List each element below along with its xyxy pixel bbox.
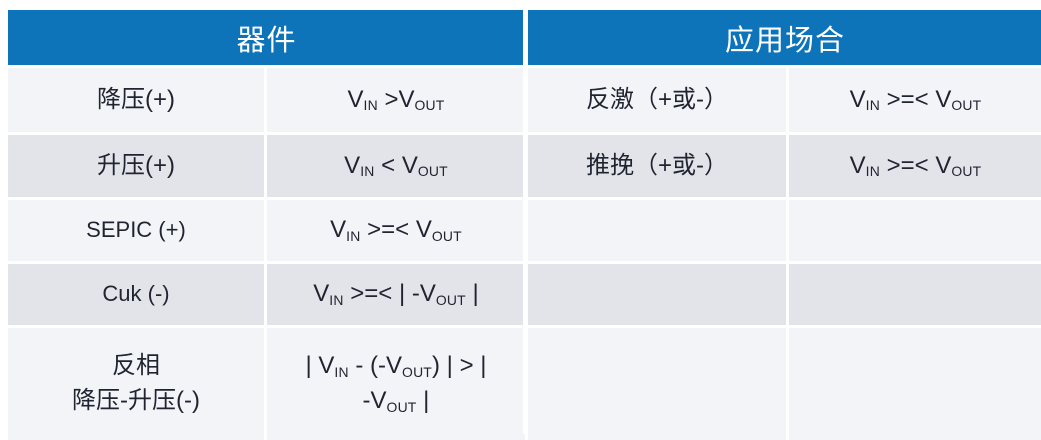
- condition-formula: VIN < VOUT: [344, 151, 448, 182]
- table-cell-app-topology: 推挽（+或-）: [528, 135, 786, 197]
- condition-formula: VIN >VOUT: [348, 85, 445, 116]
- table-cell-condition: VIN >=< | -VOUT |: [267, 264, 525, 325]
- app-condition-formula: VIN >=< VOUT: [850, 151, 982, 182]
- topology-name: 反相 降压-升压(-): [72, 349, 200, 419]
- condition-formula: VIN >=< | -VOUT |: [313, 279, 479, 310]
- topology-name: 升压(+): [97, 151, 175, 182]
- table-row: Cuk (-): [8, 264, 264, 325]
- topology-name: Cuk (-): [102, 280, 169, 308]
- table-row: 升压(+): [8, 135, 264, 197]
- condition-formula-line2: -VOUT |: [305, 384, 486, 419]
- table-row: 反相 降压-升压(-): [8, 328, 264, 440]
- table-row: 降压(+): [8, 68, 264, 132]
- condition-formula: | VIN - (-VOUT) | > | -VOUT |: [305, 349, 486, 419]
- table-cell-app-topology: [528, 328, 786, 440]
- table-cell-condition: | VIN - (-VOUT) | > | -VOUT |: [267, 328, 525, 440]
- table-header-application-label: 应用场合: [725, 17, 845, 59]
- table-cell-app-topology: [528, 200, 786, 261]
- topology-name: SEPIC (+): [86, 216, 186, 244]
- table-header-device: 器件: [8, 10, 525, 65]
- topology-name: 降压(+): [97, 85, 175, 116]
- section-divider: [523, 10, 525, 434]
- table-cell-app-topology: 反激（+或-）: [528, 68, 786, 132]
- condition-formula: VIN >=< VOUT: [330, 215, 462, 246]
- app-topology-name: 反激（+或-）: [586, 85, 728, 116]
- comparison-table: 器件 应用场合 降压(+) VIN >VOUT 反激（+或-） VIN >=< …: [0, 0, 1041, 434]
- topology-name-line1: 反相: [72, 349, 200, 384]
- table-cell-app-condition: [789, 200, 1041, 261]
- app-condition-formula: VIN >=< VOUT: [850, 85, 982, 116]
- table-cell-app-topology: [528, 264, 786, 325]
- table-row: SEPIC (+): [8, 200, 264, 261]
- table-cell-app-condition: [789, 264, 1041, 325]
- condition-formula-line1: | VIN - (-VOUT) | > |: [305, 349, 486, 384]
- table-cell-condition: VIN >=< VOUT: [267, 200, 525, 261]
- topology-name-line2: 降压-升压(-): [72, 384, 200, 419]
- table-header-device-label: 器件: [236, 17, 296, 59]
- table-header-application: 应用场合: [528, 10, 1041, 65]
- table-grid: 器件 应用场合 降压(+) VIN >VOUT 反激（+或-） VIN >=< …: [8, 10, 1033, 440]
- table-cell-app-condition: [789, 328, 1041, 440]
- table-cell-condition: VIN >VOUT: [267, 68, 525, 132]
- table-cell-condition: VIN < VOUT: [267, 135, 525, 197]
- table-cell-app-condition: VIN >=< VOUT: [789, 68, 1041, 132]
- app-topology-name: 推挽（+或-）: [586, 151, 728, 182]
- table-cell-app-condition: VIN >=< VOUT: [789, 135, 1041, 197]
